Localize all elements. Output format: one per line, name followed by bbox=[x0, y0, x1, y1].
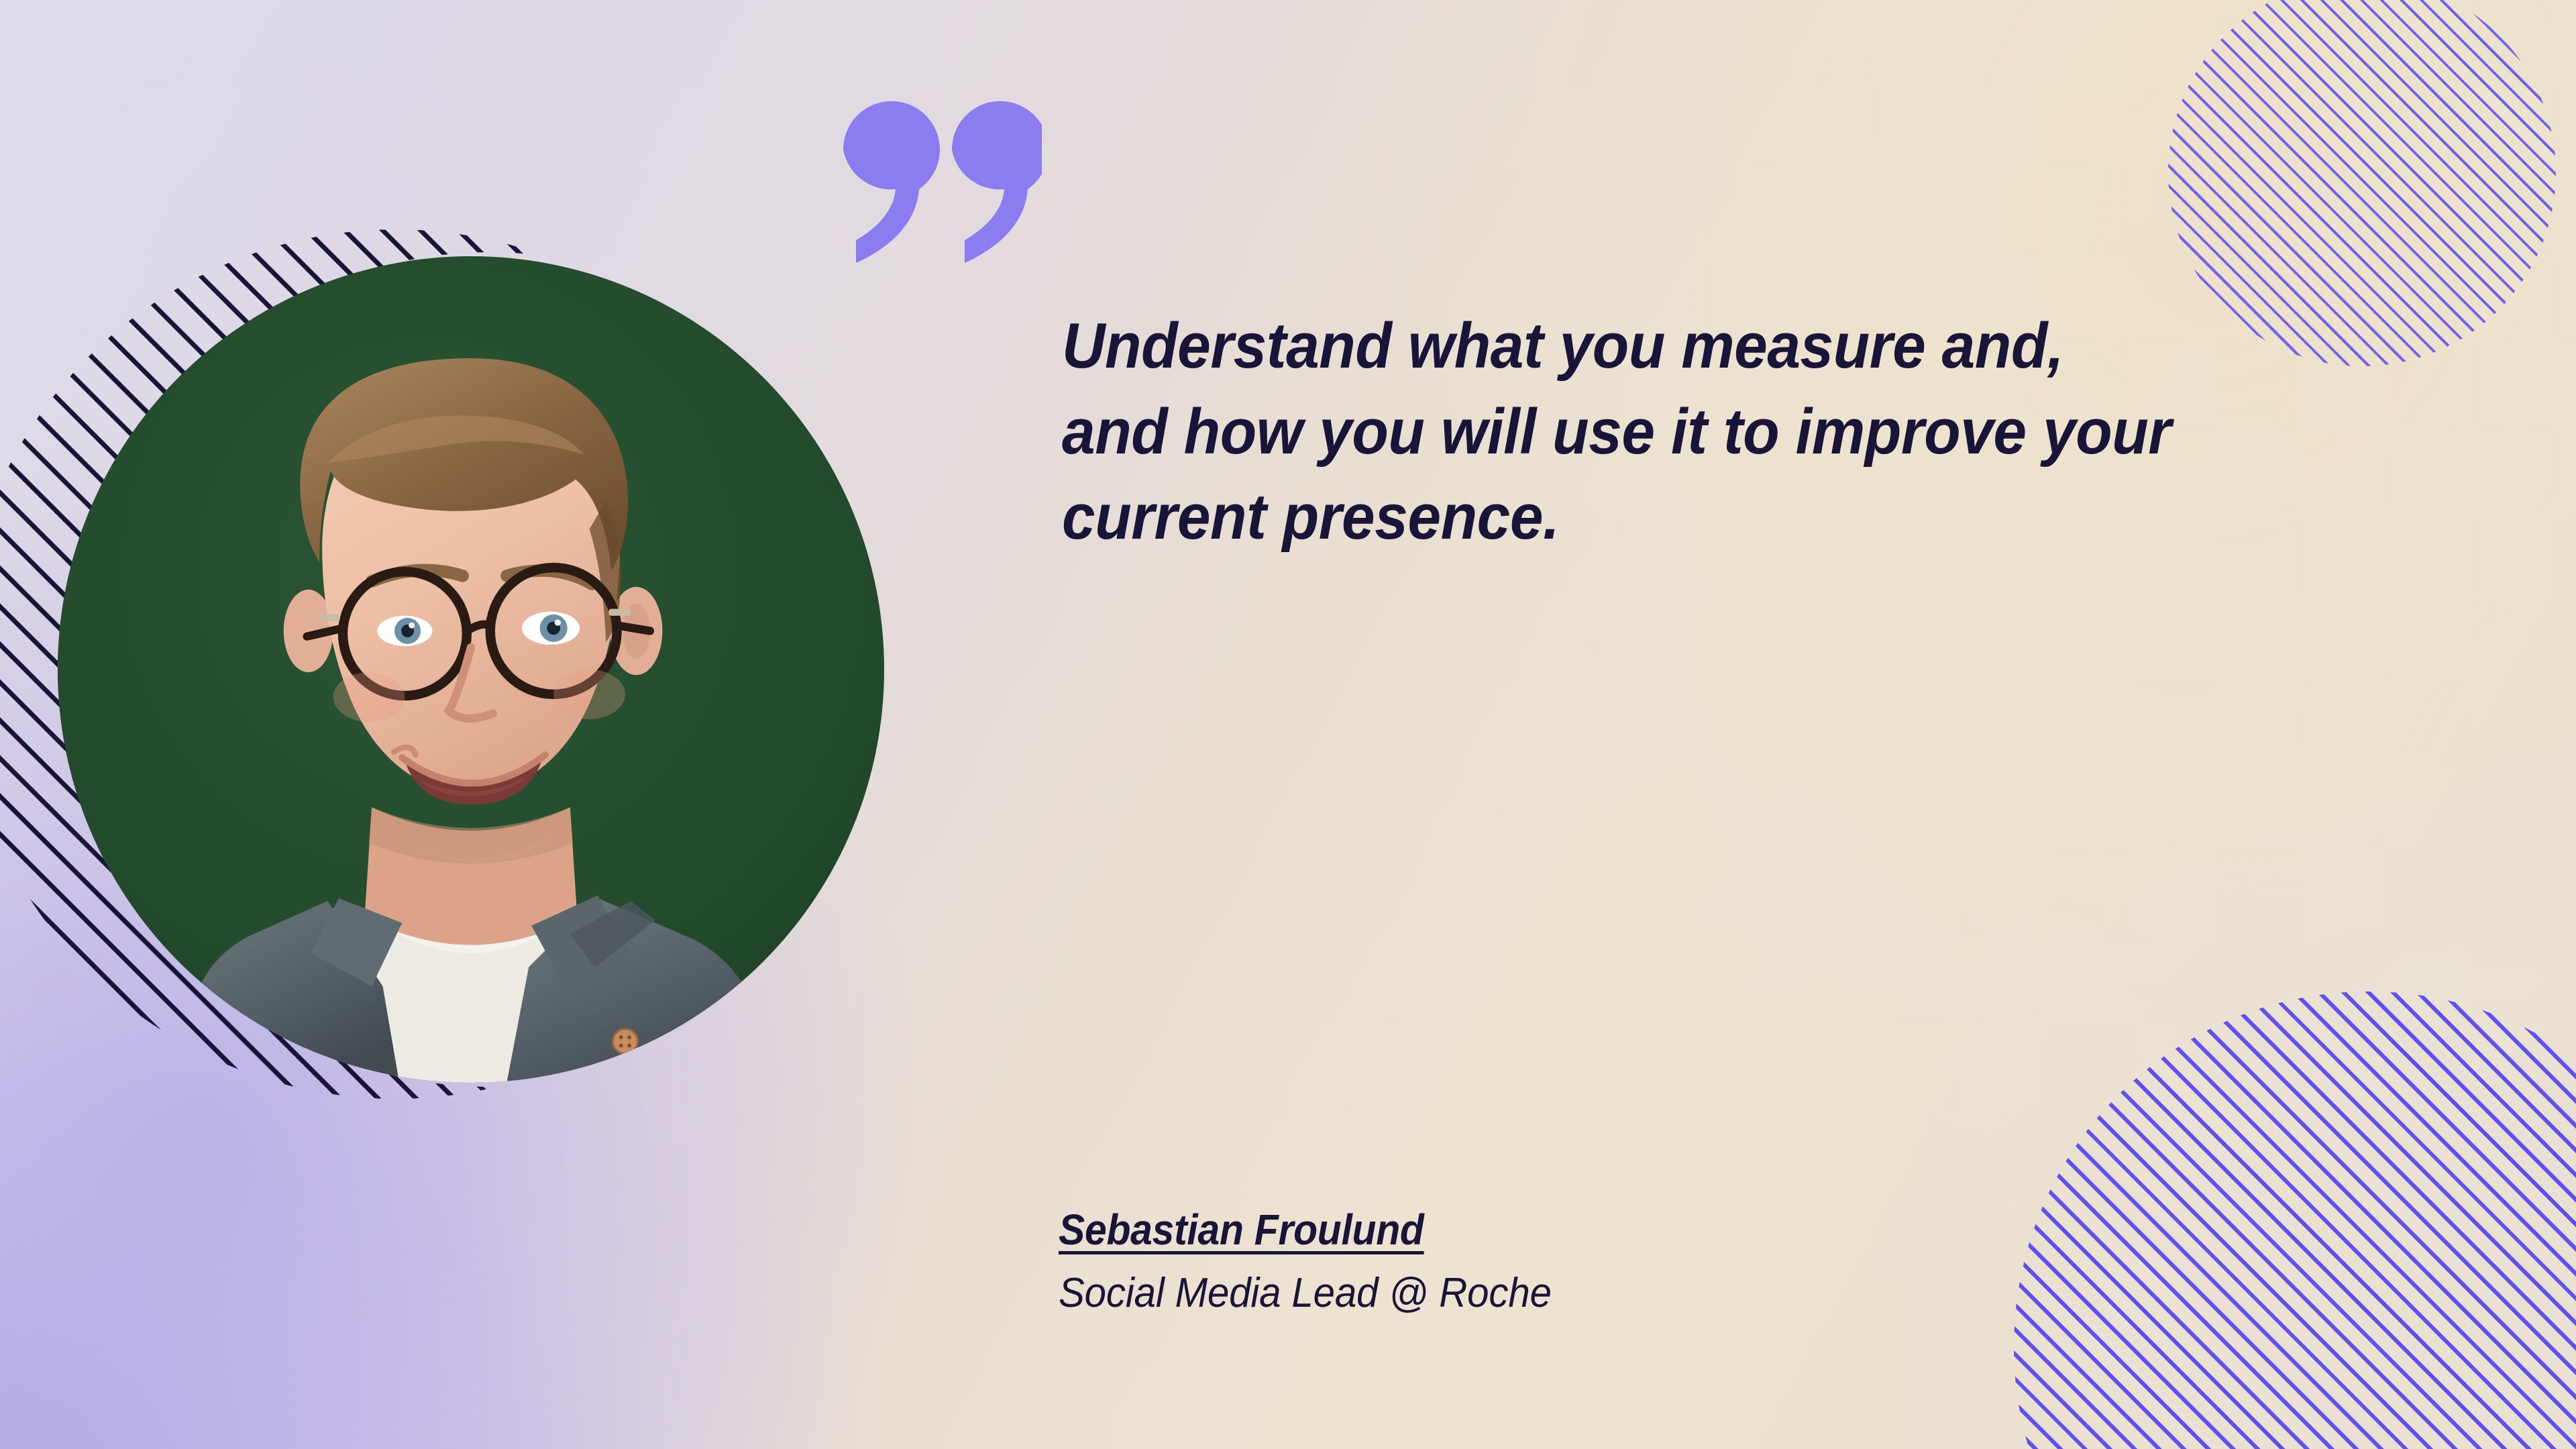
testimonial-slide: Understand what you measure and, and how… bbox=[0, 0, 2576, 1449]
portrait-illustration bbox=[58, 256, 884, 1083]
quote-text: Understand what you measure and, and how… bbox=[1062, 303, 2310, 560]
attribution-role: Social Media Lead @ Roche bbox=[1059, 1269, 1941, 1317]
attribution-name: Sebastian Froulund bbox=[1059, 1205, 1424, 1254]
closing-double-quote-icon bbox=[834, 89, 1042, 290]
attribution-block: Sebastian Froulund Social Media Lead @ R… bbox=[1059, 1205, 1998, 1317]
portrait-photo bbox=[58, 256, 884, 1083]
